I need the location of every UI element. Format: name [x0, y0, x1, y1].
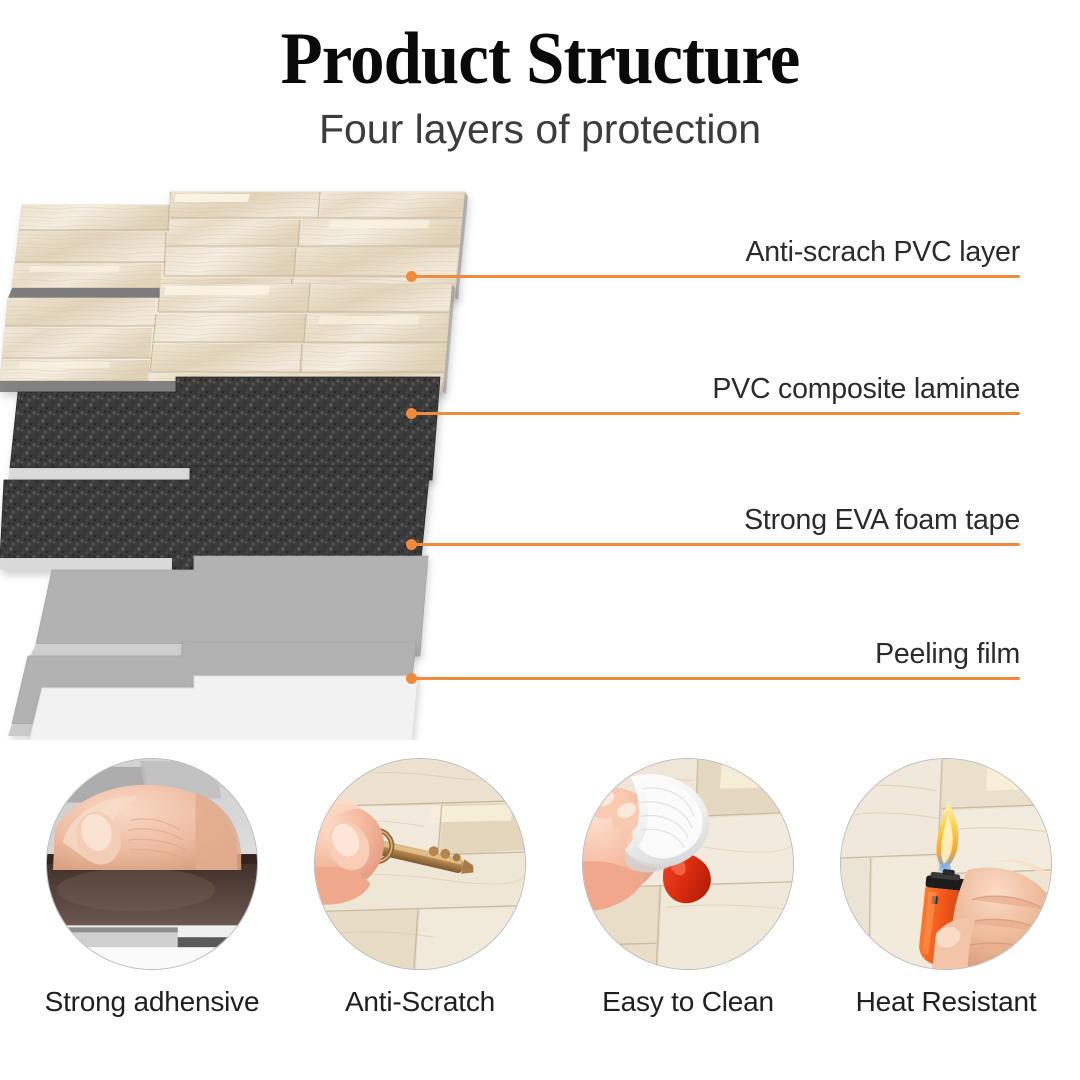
- callout-label: Anti-scrach PVC layer: [745, 236, 1020, 269]
- layer-gray-sheet: [30, 556, 428, 656]
- feature-heat-resistant: Heat Resistant: [838, 758, 1054, 1018]
- feature-label: Heat Resistant: [838, 986, 1054, 1018]
- leader-line: [411, 275, 1020, 278]
- feature-anti-scratch: Anti-Scratch: [312, 758, 528, 1018]
- feature-image-lighter-flame: [840, 758, 1052, 970]
- feature-easy-to-clean: Easy to Clean: [580, 758, 796, 1018]
- callout-label: Peeling film: [875, 638, 1020, 671]
- callout-anti-scratch-pvc: Anti-scrach PVC layer: [411, 218, 1020, 278]
- page-subtitle: Four layers of protection: [0, 105, 1080, 154]
- callout-strong-eva-foam-tape: Strong EVA foam tape: [411, 486, 1020, 546]
- feature-label: Strong adhensive: [44, 986, 260, 1018]
- feature-label: Easy to Clean: [580, 986, 796, 1018]
- callout-peeling-film: Peeling film: [411, 620, 1020, 680]
- layer-eva-foam-lower: [0, 466, 430, 570]
- callout-label: Strong EVA foam tape: [744, 504, 1020, 537]
- leader-line: [411, 543, 1020, 546]
- layer-eva-foam: [8, 377, 440, 480]
- page-title: Product Structure: [38, 22, 1042, 96]
- leader-line: [411, 677, 1020, 680]
- feature-label: Anti-Scratch: [312, 986, 528, 1018]
- callout-label: PVC composite laminate: [712, 373, 1020, 406]
- feature-image-cloth-wipe: [582, 758, 794, 970]
- feature-strong-adhesive: Strong adhensive: [44, 758, 260, 1018]
- infographic-canvas: Product Structure Four layers of protect…: [0, 0, 1080, 1080]
- callout-pvc-composite-laminate: PVC composite laminate: [411, 355, 1020, 415]
- feature-image-hand-pressing-tile: [46, 758, 258, 970]
- leader-line: [411, 412, 1020, 415]
- feature-image-key-scratch: [314, 758, 526, 970]
